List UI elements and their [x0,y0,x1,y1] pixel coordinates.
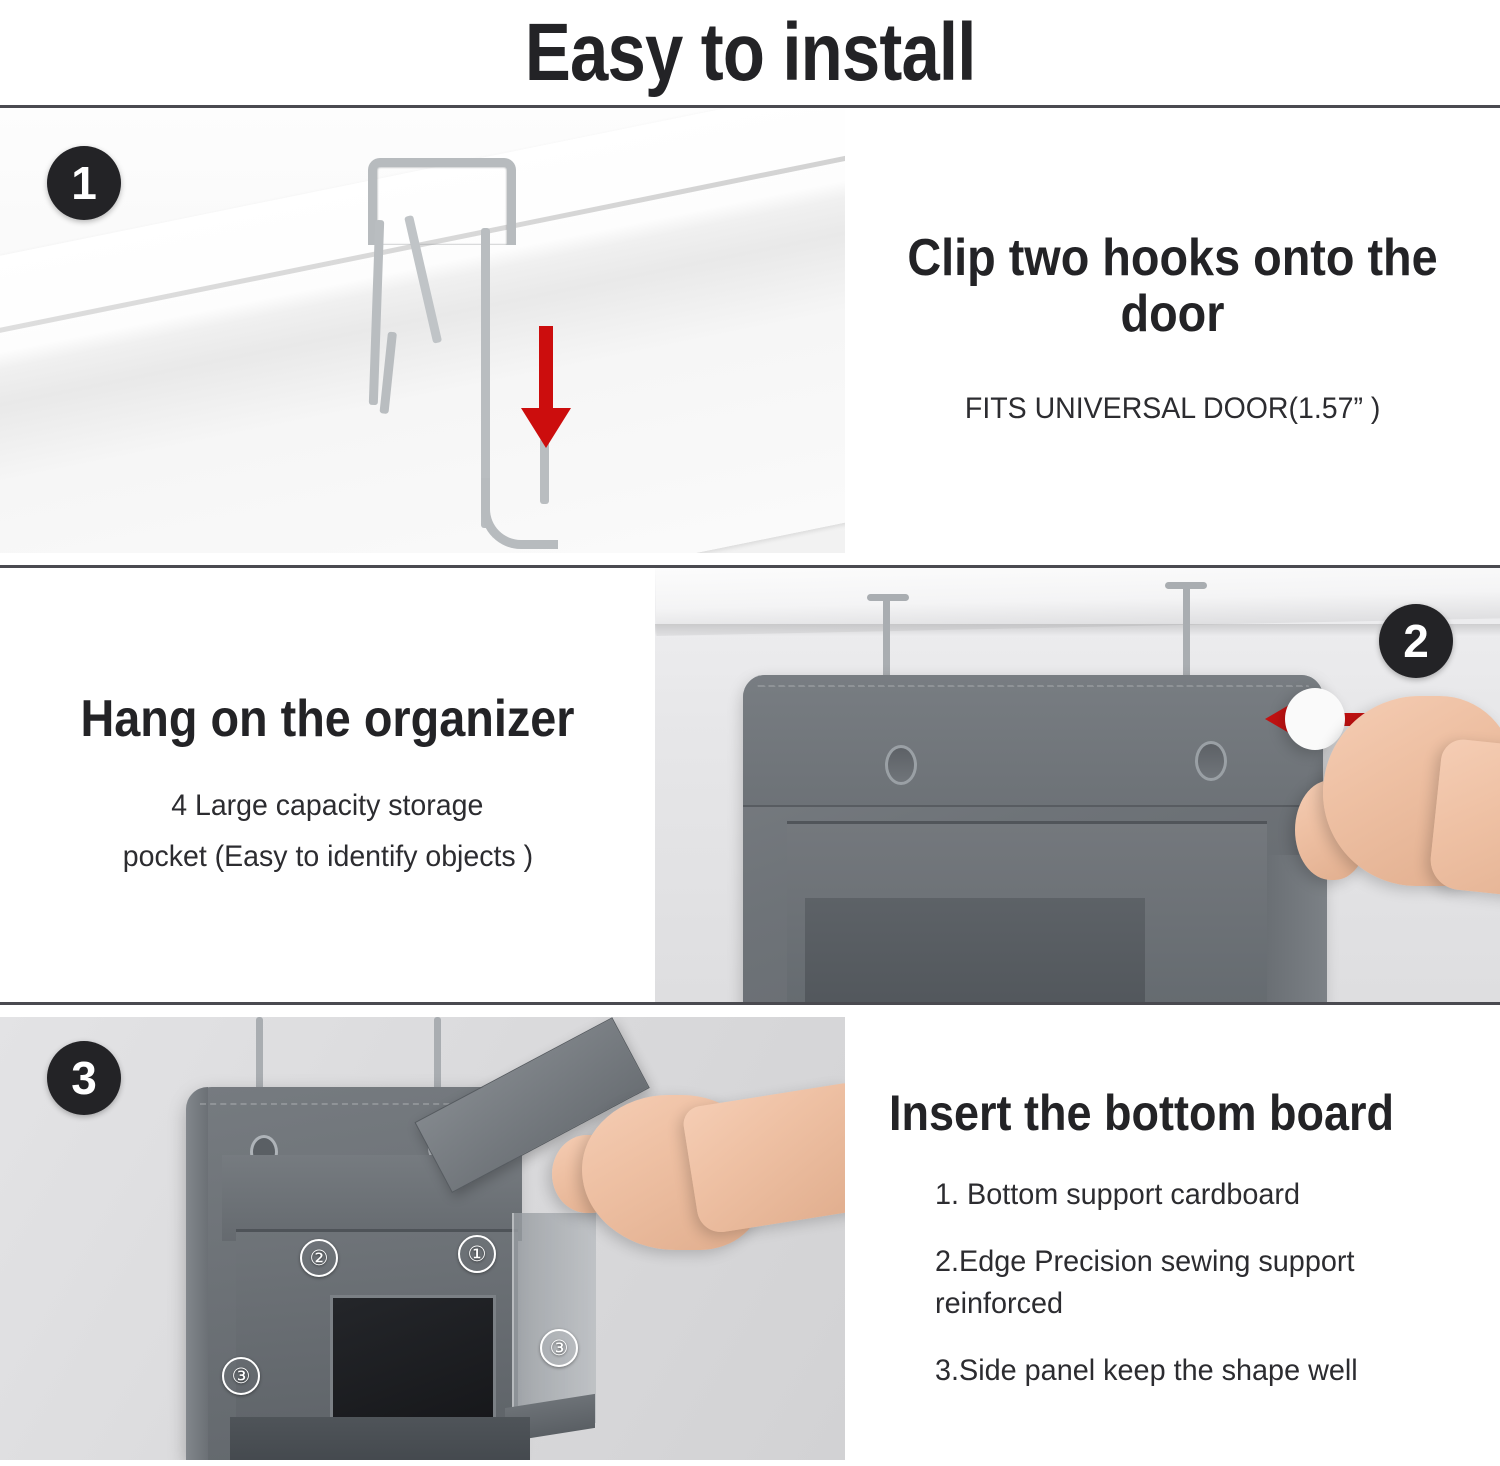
pocket-clear-window [330,1295,496,1421]
step-3-photo: ② ① ③ ③ 3 [0,1017,845,1460]
organizer-top-flap [743,675,1323,807]
callout-marker-3-right: ③ [540,1329,578,1367]
panel-gap-1 [0,553,1500,565]
callout-marker-2: ② [300,1239,338,1277]
organizer-lower-body [805,898,1145,1002]
door-shadow [655,624,1500,636]
step-badge-2: 2 [1379,604,1453,678]
grommet-right [1195,741,1227,781]
step-1-subtext: FITS UNIVERSAL DOOR(1.57” ) [965,388,1380,431]
page-title: Easy to install [525,6,976,100]
step-panel-1: 1 Clip two hooks onto the door FITS UNIV… [0,108,1500,553]
step-3-copy: Insert the bottom board 1. Bottom suppor… [845,1017,1500,1460]
down-arrow-icon [539,326,553,418]
hook-wire-right [1183,586,1190,686]
step-3-headline: Insert the bottom board [889,1086,1416,1140]
callout-marker-3-left: ③ [222,1357,260,1395]
step-1-copy: Clip two hooks onto the door FITS UNIVER… [845,108,1500,553]
stitch-line [757,685,1309,688]
step-2-subtext-line2: pocket (Easy to identify objects ) [122,836,532,879]
step-badge-3: 3 [47,1041,121,1115]
list-item: 2.Edge Precision sewing support reinforc… [935,1241,1452,1324]
step-3-list-wrapper: 1. Bottom support cardboard 2.Edge Preci… [889,1174,1474,1392]
step-badge-1: 1 [47,146,121,220]
hand-forearm [681,1082,845,1235]
step-2-subtext-line1: 4 Large capacity storage [171,785,483,828]
callout-marker-1: ① [458,1235,496,1273]
step-1-photo: 1 [0,108,845,553]
hook-wire-right [434,1017,441,1091]
list-item: 3.Side panel keep the shape well [935,1350,1452,1391]
down-arrow-head-icon [521,408,571,448]
list-item: 1. Bottom support cardboard [935,1174,1452,1215]
s-hook-top-bend-icon [368,158,516,245]
hook-wire-left [256,1017,263,1095]
pocket-side-panel [512,1213,596,1423]
step-2-photo: 2 [655,568,1500,1002]
hand-grip-highlight [1285,688,1345,750]
step-panel-3: ② ① ③ ③ 3 Insert the bottom board 1. Bot… [0,1017,1500,1460]
organizer-lower-body [230,1417,530,1460]
organizer-left-edge [186,1087,208,1460]
step-3-list: 1. Bottom support cardboard 2.Edge Preci… [935,1174,1474,1392]
page-header: Easy to install [0,0,1500,108]
grommet-left [885,745,917,785]
step-1-headline: Clip two hooks onto the door [901,230,1444,342]
step-2-copy: Hang on the organizer 4 Large capacity s… [0,568,655,1002]
panel-gap-2 [0,1005,1500,1017]
step-2-headline: Hang on the organizer [80,691,574,747]
step-panel-2: Hang on the organizer 4 Large capacity s… [0,565,1500,1005]
